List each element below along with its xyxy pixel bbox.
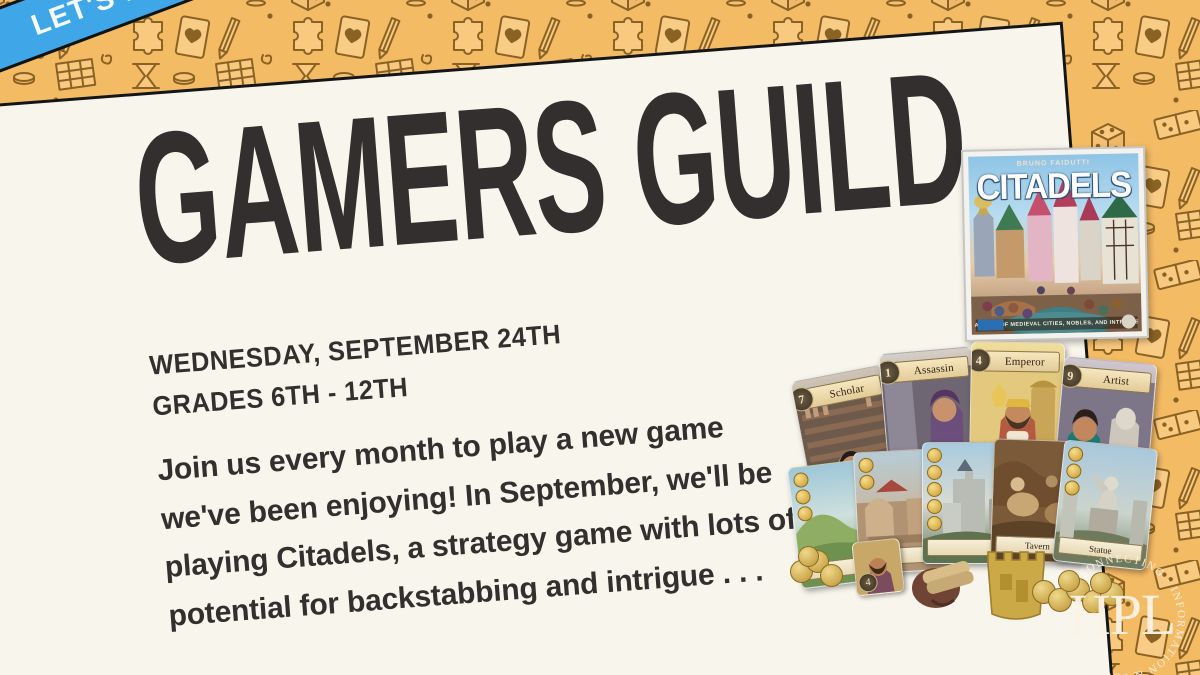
poster-canvas: GAMERS GUILD WEDNESDAY, SEPTEMBER 24TH G… <box>0 0 1200 675</box>
coin-icon <box>1064 480 1080 496</box>
coin-icon <box>820 564 843 587</box>
district-card-statue: Statue <box>1052 439 1158 570</box>
coin-icon <box>797 505 814 522</box>
coin-icon <box>927 516 942 531</box>
card-name: Artist <box>1090 372 1130 387</box>
coin-icon <box>927 482 942 497</box>
coin-pile-left <box>790 546 860 590</box>
event-grades: GRADES 6TH - 12TH <box>151 372 409 423</box>
coin-icon <box>795 489 812 506</box>
event-description: Join us every month to play a new game w… <box>156 398 809 641</box>
card-name: Emperor <box>992 355 1045 368</box>
page-title: GAMERS GUILD <box>129 51 972 287</box>
coin-icon <box>1067 446 1083 462</box>
event-date: WEDNESDAY, SEPTEMBER 24TH <box>148 319 562 382</box>
coin-icon <box>798 546 819 567</box>
card-cost-coins <box>927 448 942 531</box>
card-name: Scholar <box>816 382 865 403</box>
card-name: Assassin <box>900 361 954 378</box>
coin-icon <box>1066 463 1082 479</box>
citadels-box-art: BRUNO FAIDUTTI CITADELS A GAME OF MEDIEV… <box>961 146 1149 342</box>
card-cost-coins <box>858 457 875 490</box>
boxart-title: CITADELS <box>968 164 1139 209</box>
scroll-and-pouch-icon <box>902 552 982 614</box>
coin-icon <box>793 472 810 489</box>
coin-icon <box>858 457 874 473</box>
coin-icon <box>1058 570 1080 592</box>
coin-pile <box>1032 570 1152 614</box>
coin-icon <box>927 465 942 480</box>
coin-icon <box>927 448 942 463</box>
publisher-logo <box>978 319 1004 331</box>
coin-icon <box>859 474 875 490</box>
coin-icon <box>927 499 942 514</box>
citadels-cards-cluster: Scholar 7 Assassin 1 <box>780 340 1200 640</box>
coin-icon <box>1090 572 1112 594</box>
